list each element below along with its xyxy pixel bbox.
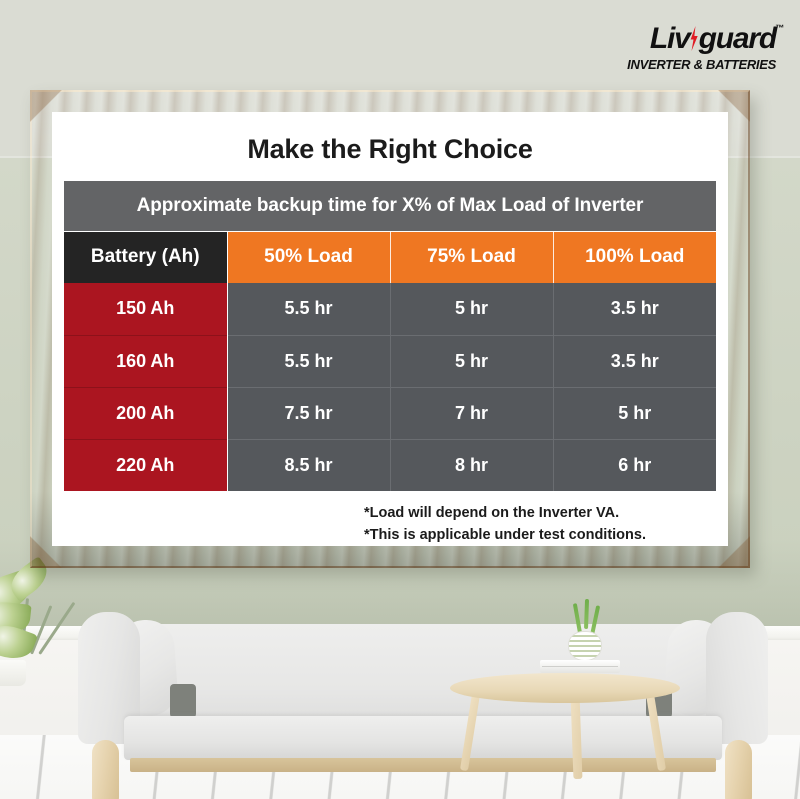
sofa-leg-left (92, 740, 119, 799)
table-leg (571, 695, 583, 779)
table-row: 200 Ah 7.5 hr 7 hr 5 hr (64, 387, 716, 439)
cell-battery: 200 Ah (64, 387, 227, 439)
logo-tagline: INVERTER & BATTERIES (627, 57, 776, 72)
cell-load-75: 5 hr (390, 283, 553, 335)
footnotes: *Load will depend on the Inverter VA. *T… (64, 503, 716, 547)
plant-pot (0, 660, 26, 686)
wooden-picture-frame: Make the Right Choice Approximate backup… (30, 90, 750, 568)
column-header-battery: Battery (Ah) (64, 231, 227, 283)
cell-battery: 220 Ah (64, 439, 227, 491)
table-banner-row: Approximate backup time for X% of Max Lo… (64, 181, 716, 231)
sofa-gap-left (170, 684, 196, 718)
logo-name-part1: Liv (650, 22, 690, 55)
cell-load-100: 3.5 hr (553, 283, 716, 335)
cell-battery: 150 Ah (64, 283, 227, 335)
table-leg (460, 693, 480, 771)
table-top (450, 673, 680, 703)
table-row: 160 Ah 5.5 hr 5 hr 3.5 hr (64, 335, 716, 387)
column-header-load-75: 75% Load (390, 231, 553, 283)
stack-of-books (540, 660, 620, 673)
logo-name-part2: guard (699, 22, 776, 55)
cell-load-100: 6 hr (553, 439, 716, 491)
column-header-load-50: 50% Load (227, 231, 390, 283)
cell-battery: 160 Ah (64, 335, 227, 387)
round-wooden-coffee-table (450, 673, 680, 785)
footnote-test-conditions: *This is applicable under test condition… (364, 525, 716, 547)
cell-load-75: 8 hr (390, 439, 553, 491)
livguard-logo: Livguard™ INVERTER & BATTERIES (627, 24, 776, 72)
table-banner: Approximate backup time for X% of Max Lo… (64, 181, 716, 231)
backup-time-table: Approximate backup time for X% of Max Lo… (64, 181, 716, 491)
living-room-scene: Livguard™ INVERTER & BATTERIES Make the … (0, 0, 800, 799)
cell-load-75: 7 hr (390, 387, 553, 439)
trademark-symbol: ™ (775, 24, 783, 33)
cell-load-100: 5 hr (553, 387, 716, 439)
striped-plant-pot (568, 631, 602, 661)
poster: Make the Right Choice Approximate backup… (52, 112, 728, 546)
table-row: 150 Ah 5.5 hr 5 hr 3.5 hr (64, 283, 716, 335)
sofa-leg-right (725, 740, 752, 799)
logo-wordmark: Livguard™ (627, 24, 776, 54)
page-title: Make the Right Choice (64, 134, 716, 165)
cell-load-50: 7.5 hr (227, 387, 390, 439)
footnote-load: *Load will depend on the Inverter VA. (364, 503, 716, 525)
cell-load-50: 5.5 hr (227, 283, 390, 335)
cell-load-50: 5.5 hr (227, 335, 390, 387)
cell-load-75: 5 hr (390, 335, 553, 387)
column-header-load-100: 100% Load (553, 231, 716, 283)
cell-load-100: 3.5 hr (553, 335, 716, 387)
table-leg (646, 693, 666, 771)
cell-load-50: 8.5 hr (227, 439, 390, 491)
table-header-row: Battery (Ah) 50% Load 75% Load 100% Load (64, 231, 716, 283)
table-row: 220 Ah 8.5 hr 8 hr 6 hr (64, 439, 716, 491)
